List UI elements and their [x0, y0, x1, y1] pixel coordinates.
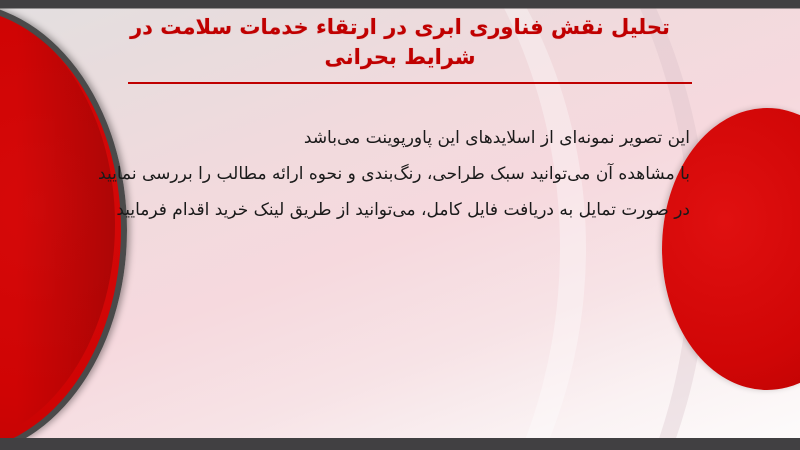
slide-body-text: این تصویر نمونه‌ای از اسلایدهای این پاور… [150, 120, 690, 228]
slide-title-line-2: شرایط بحرانی [120, 42, 680, 72]
body-line-1: این تصویر نمونه‌ای از اسلایدهای این پاور… [150, 120, 690, 156]
slide-top-hairline [0, 8, 800, 9]
title-underline-rule [128, 82, 692, 84]
slide-top-bar [0, 0, 800, 8]
slide-bottom-bar [0, 438, 800, 450]
presentation-slide: تحلیل نقش فناوری ابری در ارتقاء خدمات سل… [0, 0, 800, 450]
slide-title-line-1: تحلیل نقش فناوری ابری در ارتقاء خدمات سل… [120, 12, 680, 42]
slide-title: تحلیل نقش فناوری ابری در ارتقاء خدمات سل… [120, 12, 680, 72]
body-line-2: با مشاهده آن می‌توانید سبک طراحی، رنگ‌بن… [150, 156, 690, 192]
slide-canvas: تحلیل نقش فناوری ابری در ارتقاء خدمات سل… [0, 8, 800, 438]
body-line-3: در صورت تمایل به دریافت فایل کامل، می‌تو… [150, 192, 690, 228]
